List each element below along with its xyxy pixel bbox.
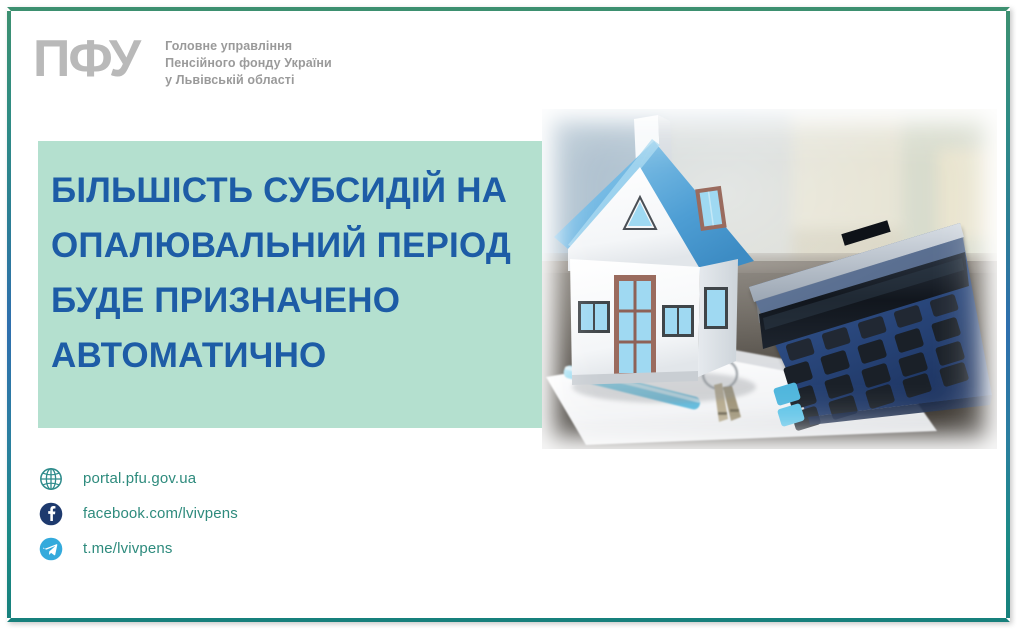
contact-row-website[interactable]: portal.pfu.gov.ua bbox=[39, 461, 238, 496]
organization-name-line-3: у Львівській області bbox=[165, 72, 332, 89]
contact-label-facebook[interactable]: facebook.com/lvivpens bbox=[83, 505, 238, 522]
photo-house-calculator bbox=[542, 109, 997, 449]
contact-row-facebook[interactable]: facebook.com/lvivpens bbox=[39, 496, 238, 531]
photo-illustration bbox=[542, 109, 997, 449]
contact-row-telegram[interactable]: t.me/lvivpens bbox=[39, 531, 238, 566]
contact-list: portal.pfu.gov.ua facebook.com/lvivpens … bbox=[39, 461, 238, 566]
contact-label-telegram[interactable]: t.me/lvivpens bbox=[83, 540, 172, 557]
slide-frame: ПФУ Головне управління Пенсійного фонду … bbox=[7, 7, 1010, 622]
globe-icon bbox=[39, 467, 63, 491]
masthead: ПФУ Головне управління Пенсійного фонду … bbox=[33, 31, 332, 89]
slide-canvas: ПФУ Головне управління Пенсійного фонду … bbox=[11, 11, 1006, 618]
contact-label-website[interactable]: portal.pfu.gov.ua bbox=[83, 470, 196, 487]
organization-name: Головне управління Пенсійного фонду Укра… bbox=[165, 31, 332, 89]
facebook-icon bbox=[39, 502, 63, 526]
organization-name-line-2: Пенсійного фонду України bbox=[165, 55, 332, 72]
organization-name-line-1: Головне управління bbox=[165, 38, 332, 55]
pfu-wordmark-icon: ПФУ bbox=[33, 31, 139, 85]
telegram-icon bbox=[39, 537, 63, 561]
headline-text: БІЛЬШІСТЬ СУБСИДІЙ НА ОПАЛЮВАЛЬНИЙ ПЕРІО… bbox=[51, 163, 561, 383]
